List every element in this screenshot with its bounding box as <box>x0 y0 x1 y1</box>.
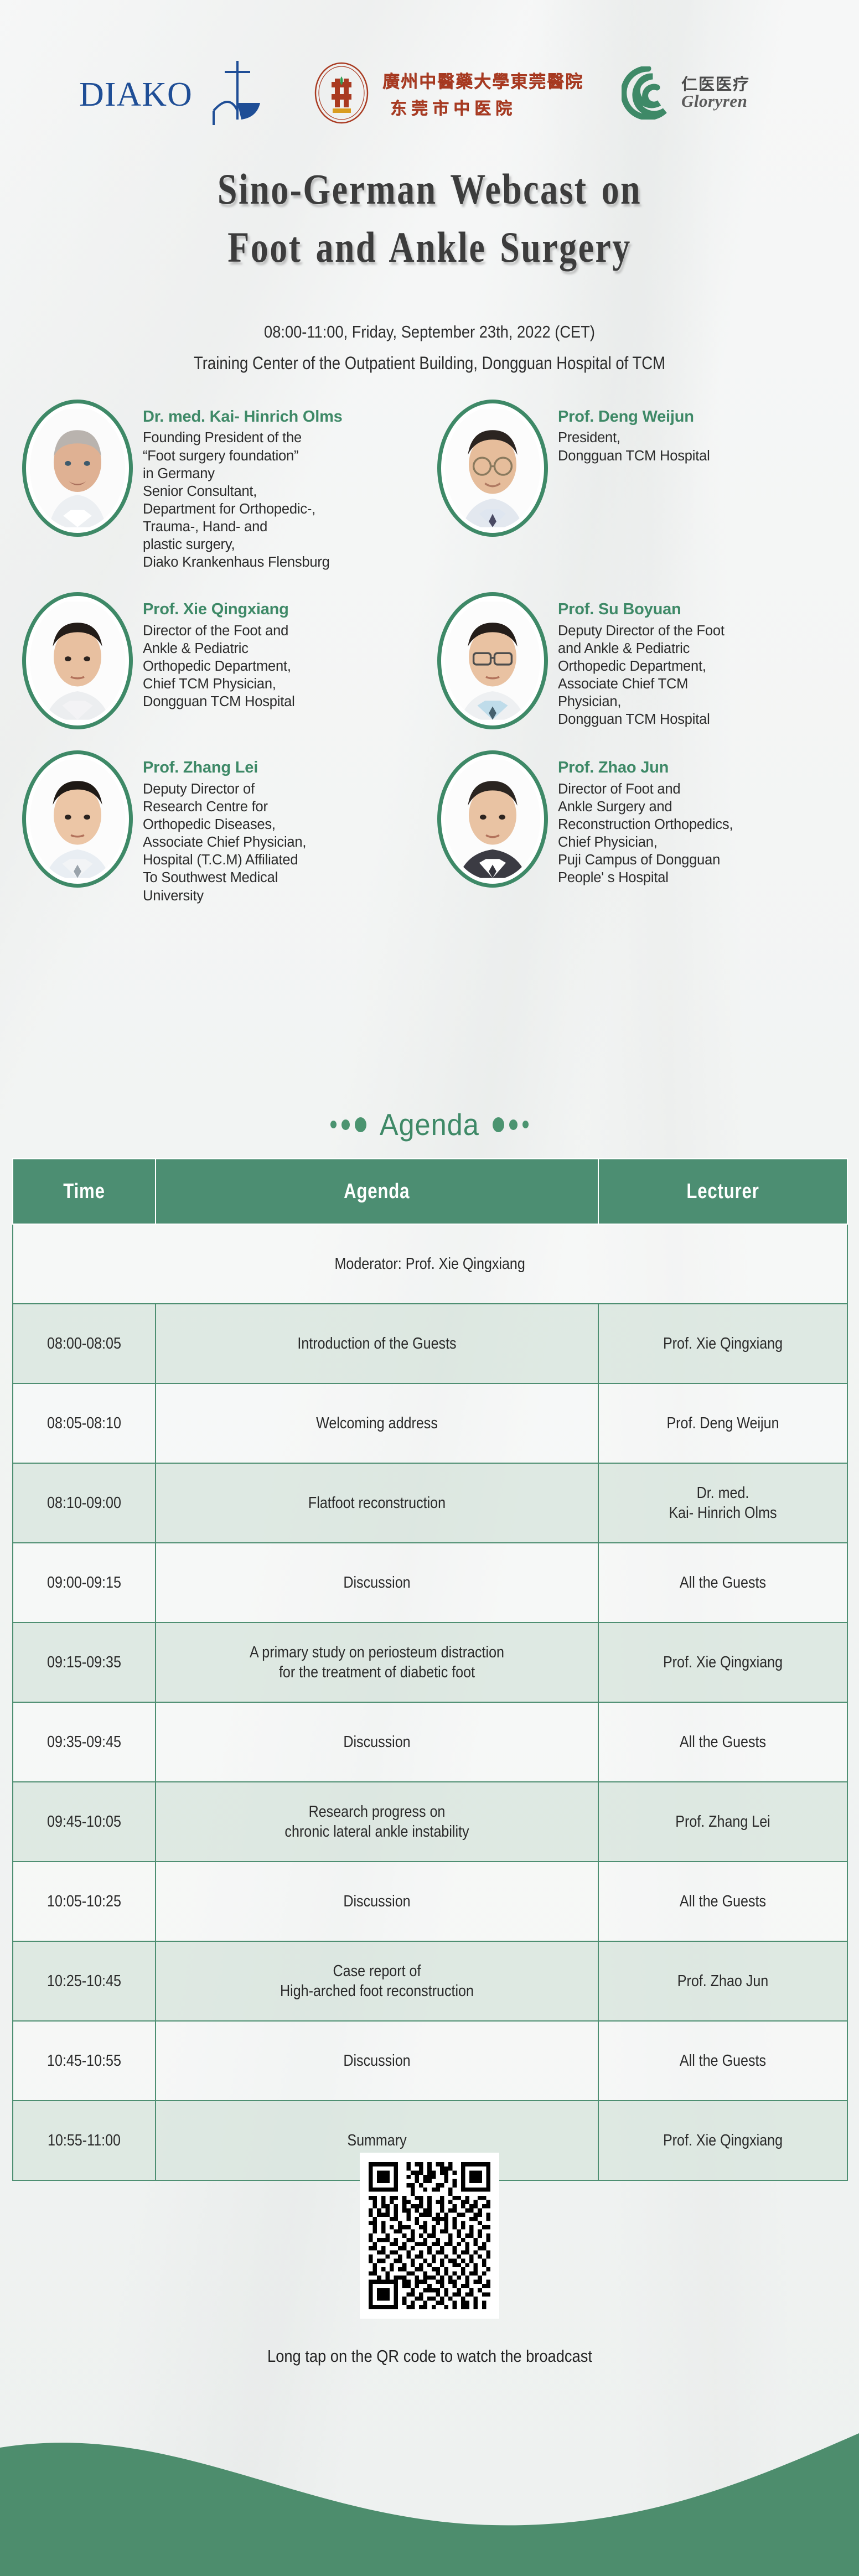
cell-lecturer: All the Guests <box>598 1543 847 1623</box>
gloryren-logo: 仁医医疗 Gloryren <box>622 66 782 120</box>
cell-lecturer: Prof. Zhang Lei <box>598 1782 847 1862</box>
table-row: 08:10-09:00 Flatfoot reconstruction Dr. … <box>13 1463 847 1543</box>
speaker-row: Prof. Xie Qingxiang Director of the Foot… <box>22 592 852 729</box>
dots-right-icon <box>493 1117 529 1132</box>
title-line-2: Foot and Ankle Surgery <box>77 219 782 277</box>
cell-topic: Flatfoot reconstruction <box>156 1463 598 1543</box>
avatar <box>22 400 133 537</box>
portrait-xie-icon <box>30 600 125 722</box>
cell-time: 08:10-09:00 <box>13 1463 156 1543</box>
cell-time: 09:35-09:45 <box>13 1702 156 1782</box>
cell-time: 09:15-09:35 <box>13 1623 156 1702</box>
table-row: 09:00-09:15 Discussion All the Guests <box>13 1543 847 1623</box>
diako-logo: DIAKO <box>77 60 260 126</box>
cell-time: 08:05-08:10 <box>13 1383 156 1463</box>
table-row: 09:15-09:35 A primary study on periosteu… <box>13 1623 847 1702</box>
title-line-1: Sino-German Webcast on <box>77 160 782 219</box>
speaker-card-zhao: Prof. Zhao Jun Director of Foot and Ankl… <box>437 750 852 904</box>
table-row: 08:05-08:10 Welcoming address Prof. Deng… <box>13 1383 847 1463</box>
speaker-name: Prof. Xie Qingxiang <box>143 600 431 619</box>
speaker-card-deng: Prof. Deng Weijun President, Dongguan TC… <box>437 400 852 571</box>
cell-lecturer: Dr. med. Kai- Hinrich Olms <box>598 1463 847 1543</box>
avatar <box>22 592 133 729</box>
cell-lecturer: All the Guests <box>598 1702 847 1782</box>
speaker-name: Prof. Zhao Jun <box>558 758 846 778</box>
cell-topic: Case report of High-arched foot reconstr… <box>156 1941 598 2021</box>
speaker-bio: Founding President of the “Foot surgery … <box>143 429 431 571</box>
portrait-su-icon <box>445 600 540 722</box>
cell-time: 10:25-10:45 <box>13 1941 156 2021</box>
speaker-bio: Director of the Foot and Ankle & Pediatr… <box>143 622 431 711</box>
table-row: 09:35-09:45 Discussion All the Guests <box>13 1702 847 1782</box>
dots-left-icon <box>330 1117 366 1132</box>
portrait-zhao-icon <box>445 758 540 880</box>
cell-time: 09:00-09:15 <box>13 1543 156 1623</box>
hospital-seal-icon <box>311 62 372 124</box>
speaker-bio: Director of Foot and Ankle Surgery and R… <box>558 780 846 887</box>
cell-topic: Discussion <box>156 1543 598 1623</box>
diako-ship-cross-icon <box>213 60 262 126</box>
table-header-row: Time Agenda Lecturer <box>13 1159 847 1224</box>
avatar <box>437 592 548 729</box>
hospital-name-cn-1: 廣州中醫藥大學東莞醫院 <box>382 68 583 92</box>
cell-topic: Discussion <box>156 1702 598 1782</box>
cell-topic: Discussion <box>156 2021 598 2101</box>
cell-topic: A primary study on periosteum distractio… <box>156 1623 598 1702</box>
logo-bar: DIAKO 廣州中醫藥大學東莞醫院 东莞市中医院 <box>0 60 859 126</box>
hospital-name-cn-2: 东莞市中医院 <box>382 95 583 119</box>
speaker-card-olms: Dr. med. Kai- Hinrich Olms Founding Pres… <box>22 400 437 571</box>
speaker-row: Dr. med. Kai- Hinrich Olms Founding Pres… <box>22 400 852 571</box>
gloryren-name-cn: 仁医医疗 <box>681 76 750 92</box>
cell-lecturer: Prof. Xie Qingxiang <box>598 1623 847 1702</box>
table-row: 09:45-10:05 Research progress on chronic… <box>13 1782 847 1862</box>
cell-time: 10:05-10:25 <box>13 1862 156 1941</box>
qr-code-matrix <box>369 2159 490 2312</box>
cell-time: 10:45-10:55 <box>13 2021 156 2101</box>
moderator-cell: Moderator: Prof. Xie Qingxiang <box>13 1224 847 1304</box>
qr-section: Long tap on the QR code to watch the bro… <box>0 2153 859 2366</box>
qr-code-icon[interactable] <box>360 2153 499 2319</box>
avatar <box>437 750 548 888</box>
speaker-bio: Deputy Director of the Foot and Ankle & … <box>558 622 846 729</box>
speaker-name: Dr. med. Kai- Hinrich Olms <box>143 407 431 427</box>
speaker-bio: Deputy Director of Research Centre for O… <box>143 780 431 905</box>
cell-time: 08:00-08:05 <box>13 1304 156 1383</box>
portrait-deng-icon <box>445 407 540 529</box>
cell-topic: Welcoming address <box>156 1383 598 1463</box>
page-title: Sino-German Webcast on Foot and Ankle Su… <box>0 160 859 276</box>
speaker-name: Prof. Zhang Lei <box>143 758 431 778</box>
avatar <box>22 750 133 888</box>
cell-time: 09:45-10:05 <box>13 1782 156 1862</box>
column-header-time: Time <box>13 1159 156 1224</box>
speaker-grid: Dr. med. Kai- Hinrich Olms Founding Pres… <box>22 400 852 905</box>
column-header-lecturer: Lecturer <box>598 1159 847 1224</box>
cell-topic: Research progress on chronic lateral ank… <box>156 1782 598 1862</box>
cell-topic: Introduction of the Guests <box>156 1304 598 1383</box>
speaker-bio: President, Dongguan TCM Hospital <box>558 429 846 464</box>
cell-lecturer: Prof. Xie Qingxiang <box>598 1304 847 1383</box>
qr-caption: Long tap on the QR code to watch the bro… <box>267 2346 592 2366</box>
table-row: 10:45-10:55 Discussion All the Guests <box>13 2021 847 2101</box>
agenda-heading-label: Agenda <box>380 1107 479 1142</box>
speaker-card-su: Prof. Su Boyuan Deputy Director of the F… <box>437 592 852 729</box>
table-row: 08:00-08:05 Introduction of the Guests P… <box>13 1304 847 1383</box>
avatar <box>437 400 548 537</box>
dongguan-hospital-logo: 廣州中醫藥大學東莞醫院 东莞市中医院 <box>311 62 571 124</box>
speaker-row: Prof. Zhang Lei Deputy Director of Resea… <box>22 750 852 904</box>
diako-wordmark: DIAKO <box>79 75 193 115</box>
cell-topic: Discussion <box>156 1862 598 1941</box>
table-row: 10:05-10:25 Discussion All the Guests <box>13 1862 847 1941</box>
speaker-card-zhang: Prof. Zhang Lei Deputy Director of Resea… <box>22 750 437 904</box>
cell-lecturer: All the Guests <box>598 1862 847 1941</box>
speaker-card-xie: Prof. Xie Qingxiang Director of the Foot… <box>22 592 437 729</box>
agenda-table: Time Agenda Lecturer Moderator: Prof. Xi… <box>12 1158 848 2181</box>
cell-lecturer: Prof. Deng Weijun <box>598 1383 847 1463</box>
portrait-zhang-icon <box>30 758 125 880</box>
portrait-olms-icon <box>30 407 125 529</box>
cell-lecturer: All the Guests <box>598 2021 847 2101</box>
moderator-row: Moderator: Prof. Xie Qingxiang <box>13 1224 847 1304</box>
table-row: 10:25-10:45 Case report of High-arched f… <box>13 1941 847 2021</box>
column-header-agenda: Agenda <box>156 1159 598 1224</box>
speaker-name: Prof. Deng Weijun <box>558 407 846 427</box>
event-datetime: 08:00-11:00, Friday, September 23th, 202… <box>51 322 808 342</box>
gloryren-name-en: Gloryren <box>681 92 750 111</box>
event-venue: Training Center of the Outpatient Buildi… <box>60 353 799 374</box>
agenda-heading: Agenda <box>0 1107 859 1142</box>
speaker-name: Prof. Su Boyuan <box>558 600 846 619</box>
footer-wave-decoration <box>0 2404 859 2576</box>
cell-lecturer: Prof. Zhao Jun <box>598 1941 847 2021</box>
gloryren-spiral-icon <box>622 66 675 120</box>
